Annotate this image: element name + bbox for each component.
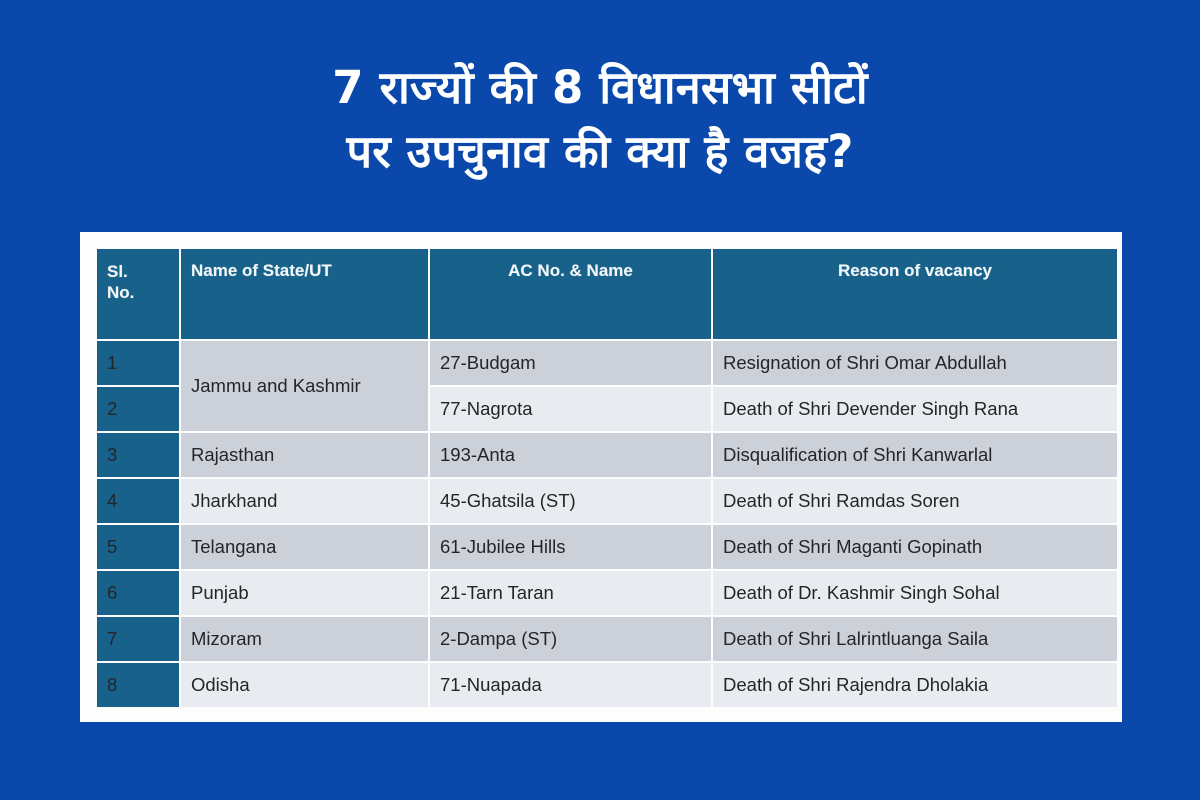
cell-reason-of-vacancy: Death of Shri Rajendra Dholakia xyxy=(713,663,1117,707)
cell-sl-no: 3 xyxy=(97,433,179,477)
cell-state-name: Jammu and Kashmir xyxy=(181,341,428,431)
column-header-state: Name of State/UT xyxy=(181,249,428,339)
table-card: Sl. No. Name of State/UT AC No. & Name R… xyxy=(80,232,1122,722)
cell-sl-no: 4 xyxy=(97,479,179,523)
cell-sl-no: 8 xyxy=(97,663,179,707)
cell-state-name: Telangana xyxy=(181,525,428,569)
cell-ac-no-name: 193-Anta xyxy=(430,433,711,477)
table-header-row: Sl. No. Name of State/UT AC No. & Name R… xyxy=(97,249,1117,339)
cell-ac-no-name: 2-Dampa (ST) xyxy=(430,617,711,661)
cell-reason-of-vacancy: Death of Shri Lalrintluanga Saila xyxy=(713,617,1117,661)
cell-ac-no-name: 61-Jubilee Hills xyxy=(430,525,711,569)
cell-sl-no: 6 xyxy=(97,571,179,615)
column-header-sl-no-line2: No. xyxy=(107,283,134,302)
cell-ac-no-name: 45-Ghatsila (ST) xyxy=(430,479,711,523)
column-header-reason: Reason of vacancy xyxy=(713,249,1117,339)
column-header-sl-no-line1: Sl. xyxy=(107,262,128,281)
cell-sl-no: 1 xyxy=(97,341,179,385)
vacancy-table: Sl. No. Name of State/UT AC No. & Name R… xyxy=(95,247,1119,709)
page-title-line-2: पर उपचुनाव की क्या है वजह? xyxy=(0,120,1200,184)
cell-reason-of-vacancy: Disqualification of Shri Kanwarlal xyxy=(713,433,1117,477)
cell-ac-no-name: 21-Tarn Taran xyxy=(430,571,711,615)
table-row: 3Rajasthan193-AntaDisqualification of Sh… xyxy=(97,433,1117,477)
table-row: 7Mizoram2-Dampa (ST)Death of Shri Lalrin… xyxy=(97,617,1117,661)
cell-ac-no-name: 71-Nuapada xyxy=(430,663,711,707)
cell-state-name: Punjab xyxy=(181,571,428,615)
table-header: Sl. No. Name of State/UT AC No. & Name R… xyxy=(97,249,1117,339)
table-row: 5Telangana61-Jubilee HillsDeath of Shri … xyxy=(97,525,1117,569)
cell-reason-of-vacancy: Death of Dr. Kashmir Singh Sohal xyxy=(713,571,1117,615)
cell-state-name: Mizoram xyxy=(181,617,428,661)
cell-reason-of-vacancy: Resignation of Shri Omar Abdullah xyxy=(713,341,1117,385)
column-header-sl-no: Sl. No. xyxy=(97,249,179,339)
table-body: 1Jammu and Kashmir27-BudgamResignation o… xyxy=(97,341,1117,707)
cell-sl-no: 7 xyxy=(97,617,179,661)
table-row: 8Odisha71-NuapadaDeath of Shri Rajendra … xyxy=(97,663,1117,707)
cell-ac-no-name: 77-Nagrota xyxy=(430,387,711,431)
table-row: 6Punjab21-Tarn TaranDeath of Dr. Kashmir… xyxy=(97,571,1117,615)
cell-state-name: Jharkhand xyxy=(181,479,428,523)
cell-reason-of-vacancy: Death of Shri Devender Singh Rana xyxy=(713,387,1117,431)
page-title-line-1: 7 राज्यों की 8 विधानसभा सीटों xyxy=(0,56,1200,120)
cell-reason-of-vacancy: Death of Shri Maganti Gopinath xyxy=(713,525,1117,569)
cell-sl-no: 2 xyxy=(97,387,179,431)
cell-state-name: Odisha xyxy=(181,663,428,707)
cell-ac-no-name: 27-Budgam xyxy=(430,341,711,385)
table-row: 4Jharkhand45-Ghatsila (ST)Death of Shri … xyxy=(97,479,1117,523)
page-title: 7 राज्यों की 8 विधानसभा सीटों पर उपचुनाव… xyxy=(0,56,1200,184)
table-row: 1Jammu and Kashmir27-BudgamResignation o… xyxy=(97,341,1117,385)
column-header-ac: AC No. & Name xyxy=(430,249,711,339)
cell-sl-no: 5 xyxy=(97,525,179,569)
cell-state-name: Rajasthan xyxy=(181,433,428,477)
cell-reason-of-vacancy: Death of Shri Ramdas Soren xyxy=(713,479,1117,523)
